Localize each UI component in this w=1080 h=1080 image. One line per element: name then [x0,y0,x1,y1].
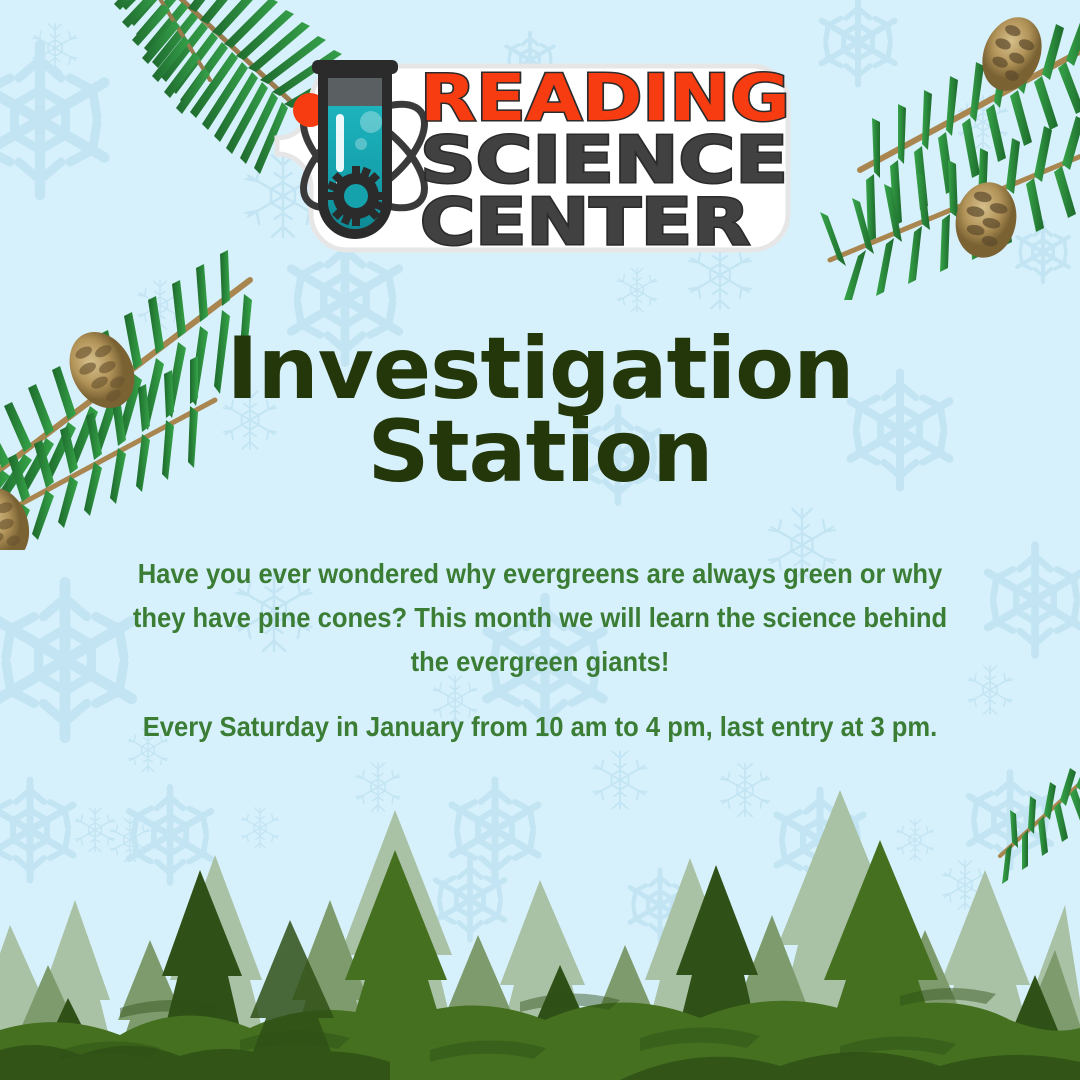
gear-icon [326,166,386,226]
pine-branch-top-right [790,0,1080,300]
test-tube-icon [312,60,398,239]
description-paragraph: Have you ever wondered why evergreens ar… [122,552,959,684]
headline-line-2: Station [0,411,1080,494]
page-title: Investigation Station [0,328,1080,495]
poster-canvas: READING SCIENCE CENTER Investigation Sta… [0,0,1080,1080]
pine-branch-right-lower [980,748,1080,888]
logo-line-center: CENTER [420,186,750,260]
schedule-text: Every Saturday in January from 10 am to … [122,708,959,746]
evergreen-forest-silhouette [0,750,1080,1080]
reading-science-center-logo: READING SCIENCE CENTER [272,48,812,263]
logo-wordmark: READING SCIENCE CENTER [420,62,790,260]
